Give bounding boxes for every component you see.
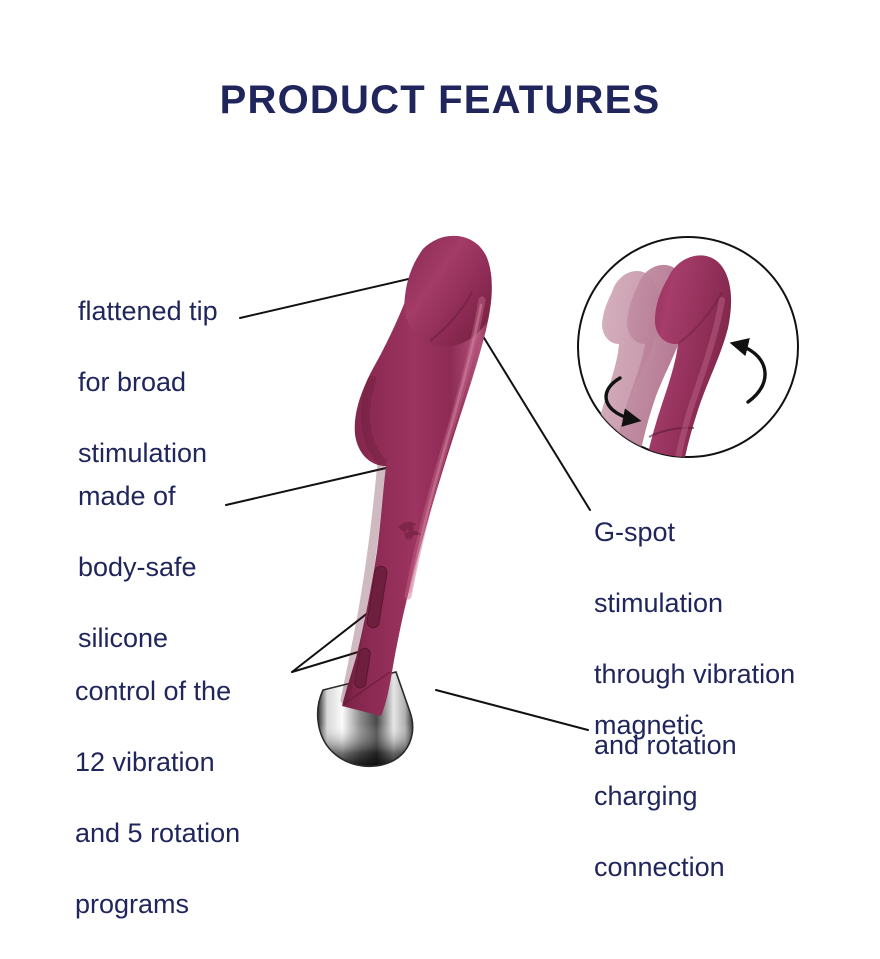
callout-controls: control of the 12 vibration and 5 rotati… (75, 638, 240, 959)
callout-line: and 5 rotation (75, 816, 240, 852)
product-body (342, 236, 492, 716)
leader-line-magnetic (436, 690, 588, 730)
inset-seam-ring (649, 428, 694, 437)
callout-line: stimulation (594, 586, 795, 622)
body-highlight (408, 300, 482, 596)
callout-line: 12 vibration (75, 745, 240, 781)
callout-line: magnetic (594, 708, 725, 744)
callout-line: made of (78, 479, 197, 515)
inset-circle-outline (578, 237, 798, 457)
body-highlight-core (410, 305, 481, 592)
leader-line-controls-upper (292, 594, 392, 672)
leader-lines (226, 274, 590, 730)
handle-seam (344, 672, 390, 704)
product-tip (404, 236, 491, 347)
inset-ghost-layer-mid (612, 265, 688, 474)
product-features-diagram: PRODUCT FEATURES (0, 0, 880, 880)
callout-line: G-spot (594, 515, 795, 551)
callout-line: connection (594, 850, 725, 886)
callout-line: flattened tip (78, 294, 218, 330)
callout-magnetic: magnetic charging connection (594, 672, 725, 921)
callout-line: programs (75, 887, 240, 923)
page-title: PRODUCT FEATURES (0, 78, 880, 123)
callout-line: for broad (78, 365, 218, 401)
inset-body-highlight (673, 300, 722, 490)
inset-rotation-detail (578, 237, 798, 498)
rotation-arrow-back (735, 344, 765, 402)
body-shadow-left (345, 380, 382, 700)
inset-product-tip (640, 255, 731, 498)
callout-line: control of the (75, 674, 240, 710)
leader-line-controls-lower (292, 646, 378, 672)
product-illustration (318, 236, 492, 766)
magnetic-charging-base (318, 672, 413, 766)
leader-line-gspot (481, 333, 590, 510)
brand-logo-mark (398, 522, 421, 541)
callout-line: charging (594, 779, 725, 815)
control-buttons (354, 565, 388, 688)
rotation-arrow-front (606, 378, 636, 420)
control-button-lower (354, 647, 371, 688)
leader-line-body-safe (226, 462, 412, 505)
callout-line: body-safe (78, 550, 197, 586)
inset-tip-crease (679, 292, 722, 343)
inset-ghost-layer-outer (592, 271, 660, 466)
control-button-upper (366, 565, 388, 628)
leader-line-flattened-tip (240, 274, 430, 318)
tip-crease (430, 292, 472, 341)
